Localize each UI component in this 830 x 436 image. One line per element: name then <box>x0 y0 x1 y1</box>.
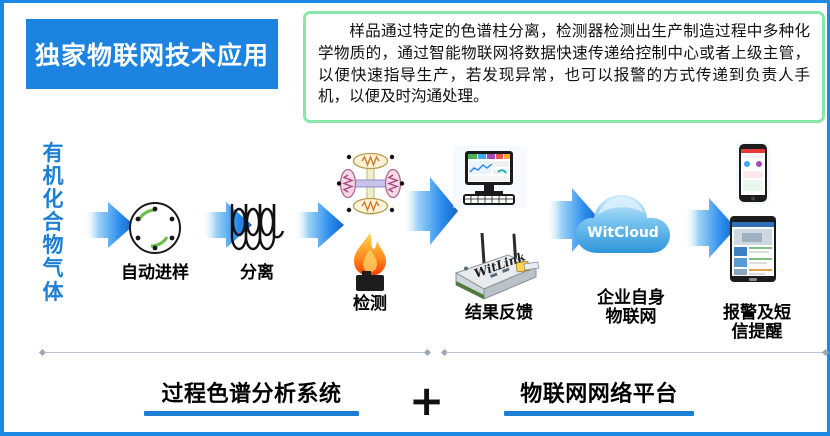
rotary-valve-icon <box>127 200 183 256</box>
dimension-bar-right <box>446 352 824 353</box>
dimension-cap-left-end <box>424 349 431 356</box>
bottom-underline-right <box>504 411 694 416</box>
source-char-6: 气 <box>36 257 70 280</box>
bottom-label-right-text: 物联网网络平台 <box>504 376 694 408</box>
bottom-label-left: 过程色谱分析系统 <box>144 376 359 416</box>
svg-text:WitCloud: WitCloud <box>587 225 659 241</box>
plus-operator: + <box>409 380 444 422</box>
step-label-alarm-sms: 报警及短 信提醒 <box>702 304 812 342</box>
source-vertical-label: 有机化合物气体 <box>36 142 70 304</box>
phone-tablet-icon <box>722 142 784 310</box>
step-label-detection: 检测 <box>330 295 410 314</box>
bottom-label-left-text: 过程色谱分析系统 <box>144 376 359 408</box>
source-char-7: 体 <box>36 281 70 304</box>
source-char-5: 物 <box>36 234 70 257</box>
step-label-result-feedback: 结果反馈 <box>444 304 554 323</box>
flame-detector-icon <box>344 231 396 293</box>
title-badge: 独家物联网技术应用 <box>26 19 278 89</box>
step-label-enterprise-iot: 企业自身 物联网 <box>579 289 683 327</box>
dimension-bar-left <box>44 352 426 353</box>
witcloud-icon: WitCloud <box>574 191 684 261</box>
step-label-auto-sampling: 自动进样 <box>105 264 205 283</box>
source-char-4: 合 <box>36 211 70 234</box>
desktop-monitor-icon <box>453 146 527 208</box>
bottom-label-right: 物联网网络平台 <box>504 376 694 416</box>
step-label-separation: 分离 <box>217 264 297 283</box>
bottom-underline-left <box>144 411 359 416</box>
infographic-root: 独家物联网技术应用 样品通过特定的色谱柱分离，检测器检测出生产制造过程中多种化学… <box>0 0 830 436</box>
dimension-line-right <box>442 348 828 357</box>
detector-bridge-icon <box>329 148 413 220</box>
coiled-column-icon <box>226 200 288 256</box>
description-text: 样品通过特定的色谱柱分离，检测器检测出生产制造过程中多种化学物质的，通过智能物联… <box>318 21 810 108</box>
witlink-router-icon: WitLink <box>450 233 542 301</box>
source-char-3: 化 <box>36 188 70 211</box>
description-box: 样品通过特定的色谱柱分离，检测器检测出生产制造过程中多种化学物质的，通过智能物联… <box>303 11 825 123</box>
source-char-2: 机 <box>36 165 70 188</box>
dimension-line-left <box>40 348 430 357</box>
source-char-1: 有 <box>36 142 70 165</box>
dimension-cap-right-end <box>822 349 829 356</box>
title-badge-text: 独家物联网技术应用 <box>35 36 269 72</box>
